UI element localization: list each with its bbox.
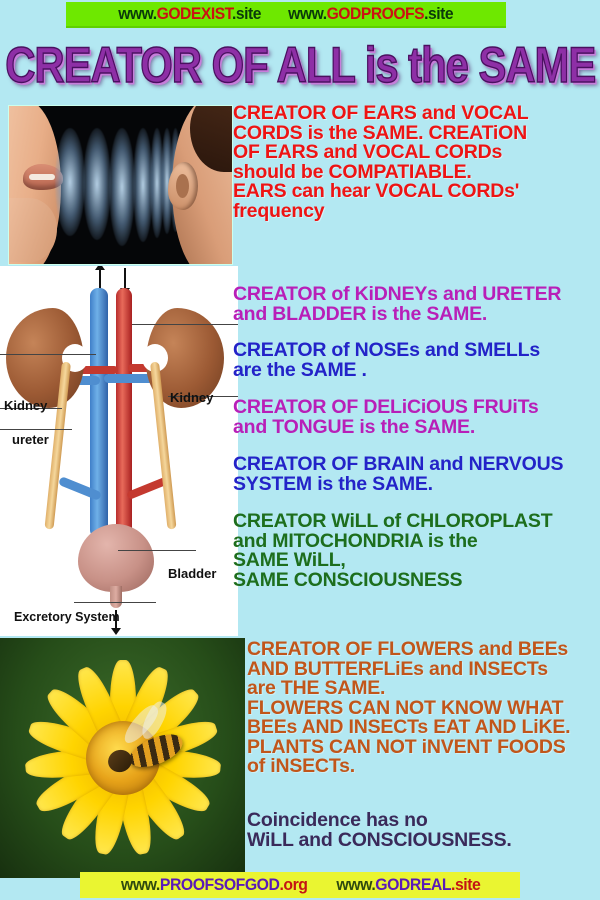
text-block-noses: CREATOR of NOSEs and SMELLs are the SAME… xyxy=(233,341,600,380)
sound-wave-3 xyxy=(109,128,135,246)
url-name: GODPROOFS xyxy=(327,4,425,23)
link-godreal[interactable]: www.GODREAL.site xyxy=(336,875,480,895)
label-excretory-system: Excretory System xyxy=(14,610,120,624)
bee-on-flower-photo xyxy=(0,638,245,878)
text-block-coincidence: Coincidence has no WiLL and CONSCIOUSNES… xyxy=(247,811,600,850)
vena-cava xyxy=(90,288,108,538)
page-title: CREATOR OF ALL is the SAME xyxy=(0,36,600,94)
url-suffix: .site xyxy=(451,875,480,894)
sound-wave-2 xyxy=(83,128,111,240)
text-block-chloroplast: CREATOR WiLL of CHLOROPLAST and MITOCHON… xyxy=(233,512,600,590)
text-block-brain: CREATOR OF BRAIN and NERVOUS SYSTEM is t… xyxy=(233,455,600,494)
arrow-up-icon xyxy=(99,268,101,290)
url-name: GODREAL xyxy=(375,875,451,894)
link-godproofs[interactable]: www.GODPROOFS.site xyxy=(288,4,453,24)
url-prefix: www. xyxy=(118,4,156,23)
top-url-banner: www.GODEXIST.site www.GODPROOFS.site xyxy=(66,2,506,26)
label-bladder: Bladder xyxy=(168,566,216,581)
leader-line-artery xyxy=(132,324,238,325)
ear-icon xyxy=(168,162,198,210)
aorta xyxy=(116,288,132,538)
bladder-organ xyxy=(78,524,154,592)
leader-line-bladder xyxy=(118,550,196,551)
leader-line-ureter xyxy=(0,429,72,430)
link-godexist[interactable]: www.GODEXIST.site xyxy=(118,4,261,24)
url-suffix: .site xyxy=(232,4,261,23)
kidney-left-organ xyxy=(6,308,84,408)
sound-wave-1 xyxy=(55,128,85,236)
sound-wave-illustration xyxy=(8,105,233,265)
bottom-url-banner: www.PROOFSOFGOD.org www.GODREAL.site xyxy=(80,872,520,898)
url-prefix: www. xyxy=(336,875,375,894)
text-block-flowers: CREATOR OF FLOWERS and BEEs AND BUTTERFL… xyxy=(247,640,600,777)
url-name: GODEXIST xyxy=(156,4,231,23)
url-name: PROOFSOFGOD xyxy=(160,875,280,894)
link-proofsofgod[interactable]: www.PROOFSOFGOD.org xyxy=(121,875,307,895)
label-ureter: ureter xyxy=(12,432,49,447)
text-block-ears: CREATOR OF EARS and VOCAL CORDS is the S… xyxy=(233,104,600,221)
url-prefix: www. xyxy=(121,875,160,894)
text-block-fruits: CREATOR OF DELiCiOUS FRUiTs and TONGUE i… xyxy=(233,398,600,437)
arrow-down-icon xyxy=(124,268,126,290)
url-suffix: .site xyxy=(424,4,453,23)
page-title-text: CREATOR OF ALL is the SAME xyxy=(5,36,595,93)
urethra xyxy=(110,586,122,608)
url-suffix: .org xyxy=(280,875,308,894)
label-kidney-right: Kidney xyxy=(170,390,213,405)
label-kidney-left: Kidney xyxy=(4,398,47,413)
url-prefix: www. xyxy=(288,4,326,23)
leader-line-system xyxy=(74,602,156,603)
text-block-kidneys: CREATOR of KiDNEYs and URETER and BLADDE… xyxy=(233,285,600,324)
leader-line-vein xyxy=(0,354,96,355)
